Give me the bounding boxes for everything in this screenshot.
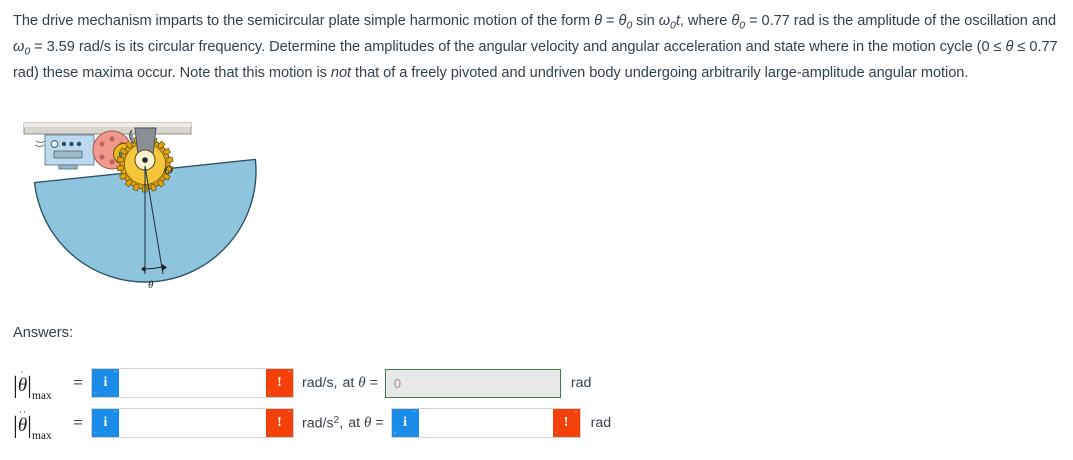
- info-icon: i: [104, 415, 108, 431]
- angular-velocity-input[interactable]: [119, 369, 266, 397]
- corner-mark-tr: ⌐: [413, 410, 416, 415]
- at-equals-1: =: [370, 375, 378, 391]
- warn-addon-3[interactable]: ⌐ ! ⌐: [553, 409, 580, 437]
- mechanism-figure: O θ: [14, 114, 284, 304]
- at-theta-input-1[interactable]: [386, 376, 560, 391]
- subscript-max: max: [32, 430, 52, 442]
- label-theta-dot-max: |·θ| max: [13, 368, 65, 398]
- corner-mark-tr: ⌐: [114, 370, 117, 375]
- info-icon: i: [403, 415, 407, 431]
- pivot-center-dot: [142, 157, 148, 163]
- unit-rad-1: rad: [571, 375, 592, 391]
- unit-rad-per-s: rad/s,: [302, 375, 337, 391]
- at-theta-value-field-1[interactable]: [385, 369, 561, 398]
- info-addon-3[interactable]: ⌐ i ⌐: [392, 409, 419, 437]
- corner-mark-bl: ⌐: [394, 431, 397, 436]
- problem-statement: The drive mechanism imparts to the semic…: [13, 11, 1061, 85]
- warning-icon: !: [277, 375, 282, 391]
- warning-icon: !: [564, 415, 569, 431]
- label-theta-ddot-max: |··θ| max: [13, 408, 65, 438]
- corner-mark-tr: ⌐: [574, 410, 577, 415]
- at-theta-label-1: at θ =: [342, 375, 377, 392]
- subscript-max: max: [32, 390, 52, 402]
- warn-addon-2[interactable]: ⌐ ! ⌐: [266, 409, 293, 437]
- theta-dot-marks: ·: [21, 369, 25, 375]
- equals-sign-1: =: [65, 373, 91, 393]
- corner-mark-bl: ⌐: [268, 431, 271, 436]
- corner-mark-tr: ⌐: [288, 370, 291, 375]
- warning-icon: !: [277, 415, 282, 431]
- angle-label-theta: θ: [148, 279, 154, 291]
- info-addon-1[interactable]: ⌐ i ⌐: [92, 369, 119, 397]
- answer-row-angular-velocity: |·θ| max = ⌐ i ⌐ ⌐ ! ⌐ rad/s, at θ =: [13, 366, 611, 400]
- abs-bars: |·θ|: [13, 372, 32, 398]
- angular-velocity-input-group[interactable]: ⌐ i ⌐ ⌐ ! ⌐: [91, 368, 294, 398]
- equals-sign-2: =: [65, 413, 91, 433]
- corner-mark-bl: ⌐: [94, 431, 97, 436]
- at-theta-input-2[interactable]: [419, 409, 553, 437]
- info-addon-2[interactable]: ⌐ i ⌐: [92, 409, 119, 437]
- angular-acceleration-input[interactable]: [119, 409, 266, 437]
- answers-rows: |·θ| max = ⌐ i ⌐ ⌐ ! ⌐ rad/s, at θ =: [13, 366, 611, 446]
- warn-addon-1[interactable]: ⌐ ! ⌐: [266, 369, 293, 397]
- angular-acceleration-input-group[interactable]: ⌐ i ⌐ ⌐ ! ⌐: [91, 408, 294, 438]
- answer-row-angular-acceleration: |··θ| max = ⌐ i ⌐ ⌐ ! ⌐ rad/s2, at θ =: [13, 406, 611, 440]
- theta-ddot-marks: ··: [19, 409, 27, 415]
- at-theta-input-group-2[interactable]: ⌐ i ⌐ ⌐ ! ⌐: [391, 408, 581, 438]
- theta-symbol-1: θ: [358, 375, 365, 391]
- at-equals-2: =: [375, 415, 383, 431]
- info-icon: i: [104, 375, 108, 391]
- corner-mark-tr: ⌐: [114, 410, 117, 415]
- unit-rad-per-s2: rad/s2,: [302, 415, 343, 432]
- unit-comma: ,: [339, 415, 343, 431]
- problem-text-segments: The drive mechanism imparts to the semic…: [13, 13, 1058, 81]
- abs-bars: |··θ|: [13, 412, 32, 438]
- pivot-label-O: O: [164, 163, 173, 177]
- theta-symbol-2: θ: [364, 415, 371, 431]
- corner-mark-tr: ⌐: [288, 410, 291, 415]
- at-word-1: at: [342, 375, 354, 391]
- corner-mark-bl: ⌐: [268, 391, 271, 396]
- answers-heading: Answers:: [13, 325, 73, 341]
- corner-mark-bl: ⌐: [555, 431, 558, 436]
- unit-rad-2: rad: [591, 415, 612, 431]
- motor-control-box: [35, 135, 94, 169]
- at-word-2: at: [348, 415, 360, 431]
- corner-mark-bl: ⌐: [94, 391, 97, 396]
- at-theta-label-2: at θ =: [348, 415, 383, 432]
- unit-rad-per-s2-base: rad/s: [302, 415, 334, 431]
